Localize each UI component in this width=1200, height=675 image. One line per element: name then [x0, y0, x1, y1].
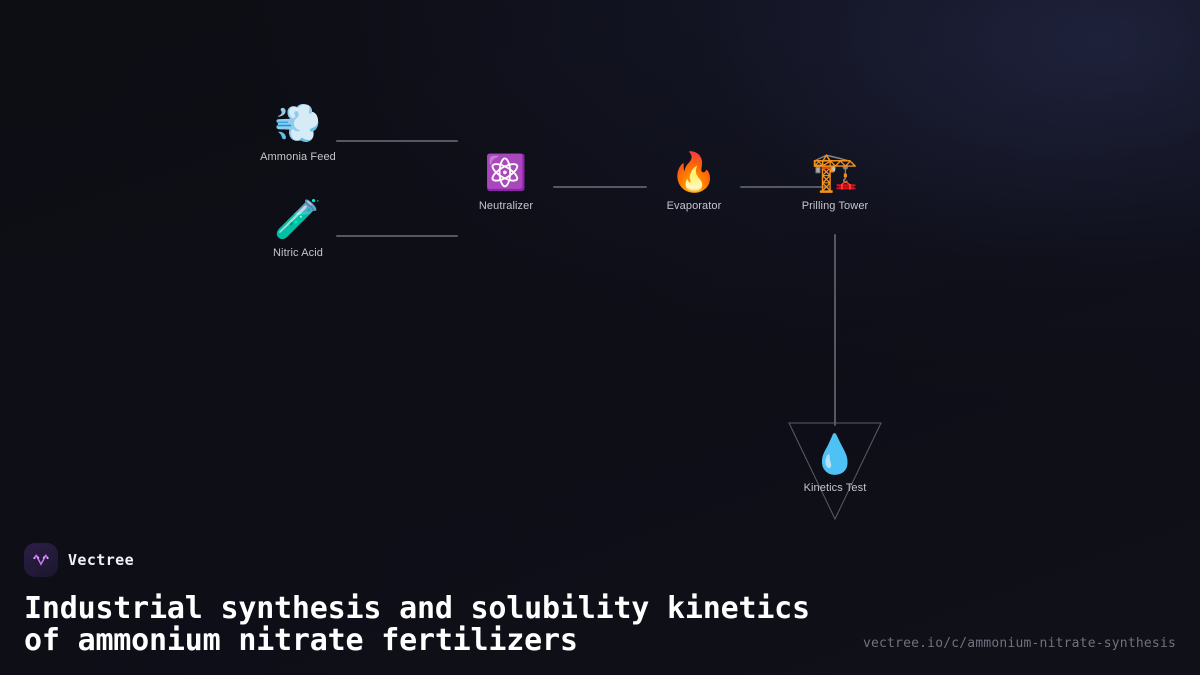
- node-label-neutralizer: Neutralizer: [446, 199, 566, 213]
- node-evaporator[interactable]: 🔥 Evaporator: [634, 147, 754, 213]
- brand-row: Vectree: [24, 543, 1176, 577]
- test-tube-icon: 🧪: [238, 194, 358, 246]
- edge-neutralizer-to-evaporator: [553, 186, 647, 188]
- node-nitric-acid[interactable]: 🧪 Nitric Acid: [238, 194, 358, 260]
- fire-icon: 🔥: [634, 147, 754, 199]
- node-ammonia-feed[interactable]: 💨 Ammonia Feed: [238, 98, 358, 164]
- node-label-prilling-tower: Prilling Tower: [775, 199, 895, 213]
- brand-name: Vectree: [68, 551, 134, 569]
- water-droplet-icon: 💧: [775, 429, 895, 481]
- share-url: vectree.io/c/ammonium-nitrate-synthesis: [863, 636, 1176, 651]
- vectree-branch-logo-icon: [24, 543, 58, 577]
- wind-gust-icon: 💨: [238, 98, 358, 150]
- node-kinetics-test[interactable]: 💧 Kinetics Test: [775, 429, 895, 495]
- construction-crane-icon: 🏗️: [775, 147, 895, 199]
- page-title: Industrial synthesis and solubility kine…: [24, 593, 824, 657]
- node-prilling-tower[interactable]: 🏗️ Prilling Tower: [775, 147, 895, 213]
- node-label-evaporator: Evaporator: [634, 199, 754, 213]
- node-label-kinetics-test: Kinetics Test: [775, 481, 895, 495]
- node-neutralizer[interactable]: ⚛️ Neutralizer: [446, 147, 566, 213]
- node-label-ammonia-feed: Ammonia Feed: [238, 150, 358, 164]
- node-label-nitric-acid: Nitric Acid: [238, 246, 358, 260]
- atom-symbol-icon: ⚛️: [446, 147, 566, 199]
- footer-branding: Vectree Industrial synthesis and solubil…: [0, 515, 1200, 675]
- edge-prilling-to-kinetics: [834, 234, 836, 426]
